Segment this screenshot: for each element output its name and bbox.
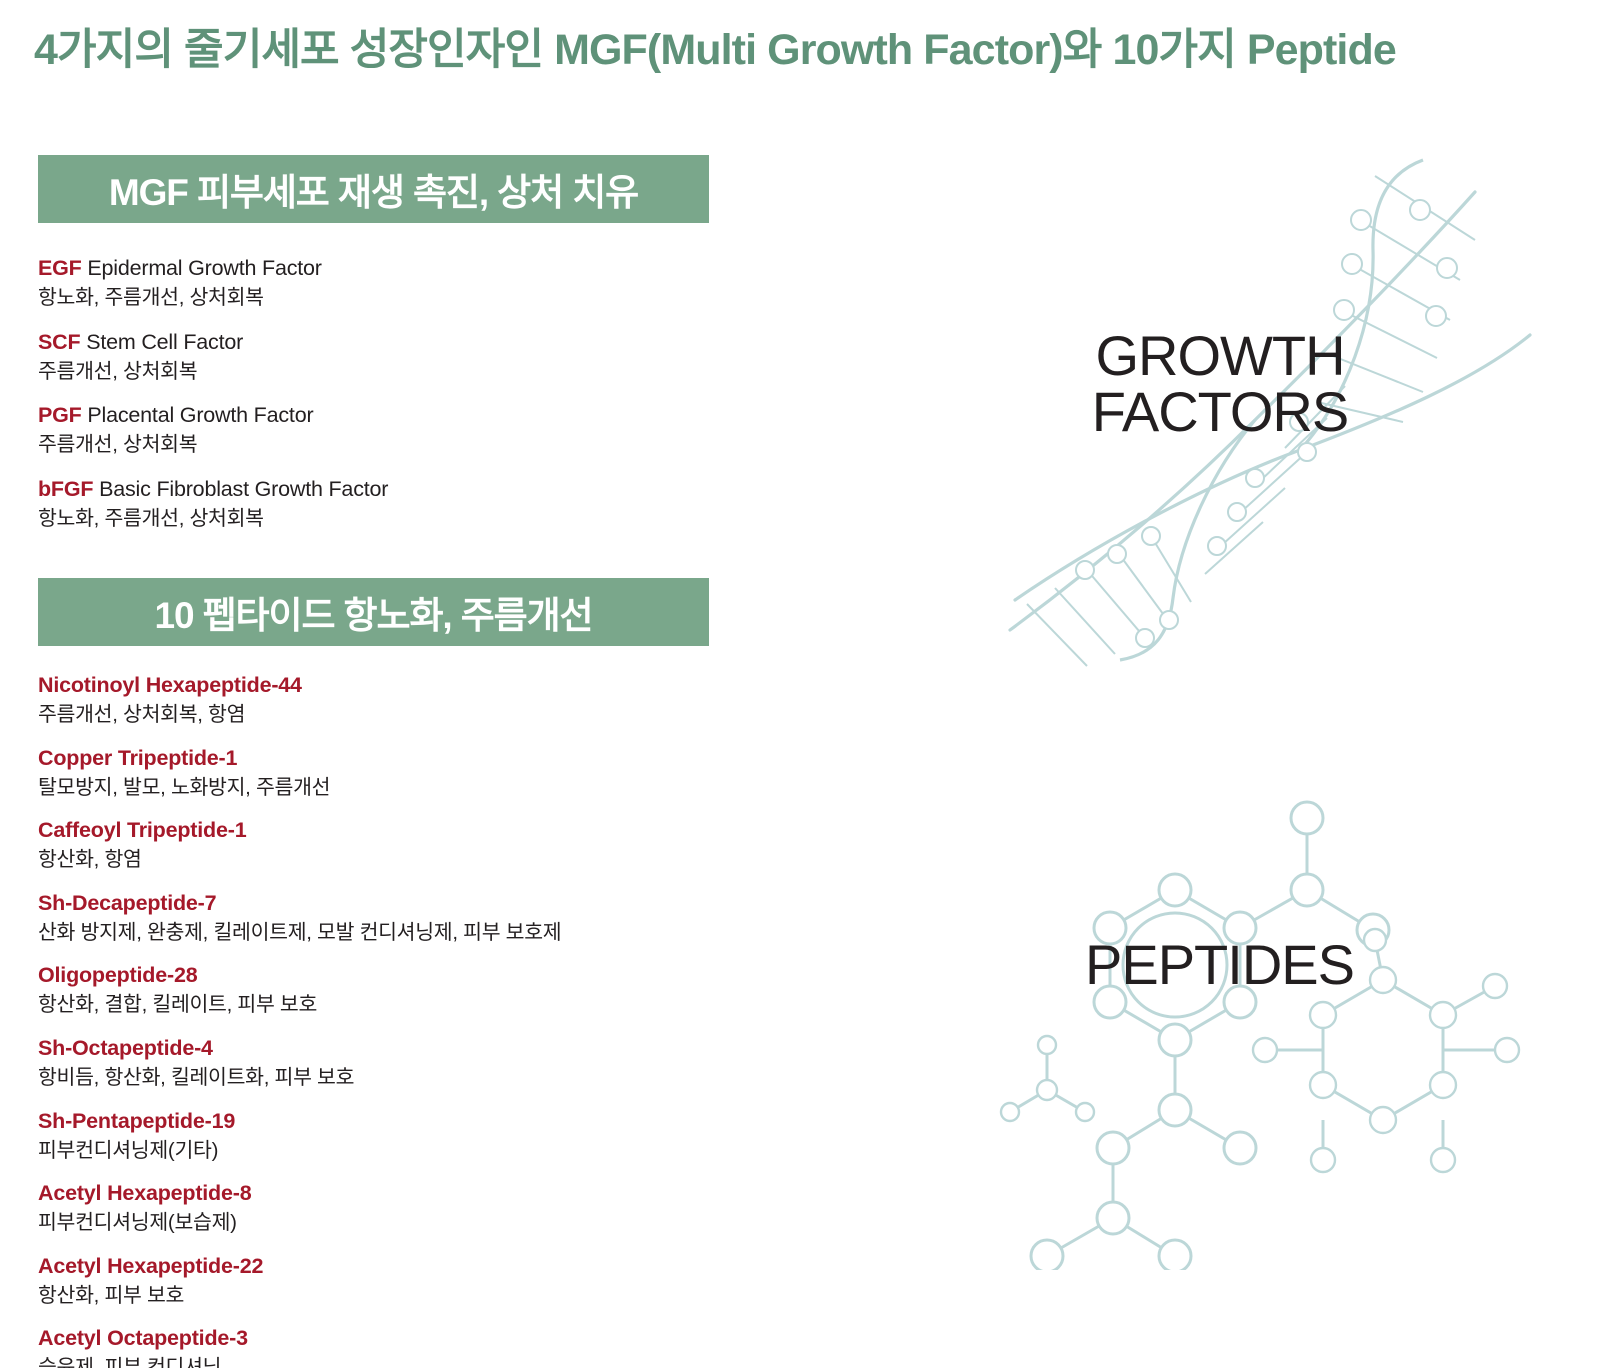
list-item: Acetyl Hexapeptide-8피부컨디셔닝제(보습제) [38,1180,918,1237]
mgf-item-description: 항노화, 주름개선, 상처회복 [38,284,918,312]
mgf-item-name: bFGF Basic Fibroblast Growth Factor [38,476,918,504]
list-item: EGF Epidermal Growth Factor항노화, 주름개선, 상처… [38,255,918,312]
mgf-item-full-name: Stem Cell Factor [86,330,243,354]
list-item: Nicotinoyl Hexapeptide-44주름개선, 상처회복, 항염 [38,672,918,729]
mgf-section-header: MGF 피부세포 재생 촉진, 상처 치유 [38,155,709,223]
peptide-item-description: 탈모방지, 발모, 노화방지, 주름개선 [38,774,918,802]
mgf-item-description: 항노화, 주름개선, 상처회복 [38,505,918,533]
list-item: Caffeoyl Tripeptide-1항산화, 항염 [38,817,918,874]
peptide-item-description: 습윤제, 피부 컨디셔닝 [38,1354,918,1368]
peptide-item-name: Sh-Decapeptide-7 [38,890,918,918]
list-item: Sh-Pentapeptide-19피부컨디셔닝제(기타) [38,1108,918,1165]
peptide-ingredient-list: Nicotinoyl Hexapeptide-44주름개선, 상처회복, 항염C… [38,672,918,1368]
list-item: SCF Stem Cell Factor주름개선, 상처회복 [38,329,918,386]
peptide-item-name: Nicotinoyl Hexapeptide-44 [38,672,918,700]
peptides-caption: PEPTIDES [1085,937,1415,993]
mgf-item-description: 주름개선, 상처회복 [38,431,918,459]
peptide-item-name: Acetyl Hexapeptide-8 [38,1180,918,1208]
peptide-item-description: 피부컨디셔닝제(보습제) [38,1209,918,1237]
mgf-item-abbr: bFGF [38,477,93,501]
peptide-item-name: Copper Tripeptide-1 [38,745,918,773]
peptide-item-description: 산화 방지제, 완충제, 킬레이트제, 모발 컨디셔닝제, 피부 보호제 [38,919,918,947]
peptides-artwork: PEPTIDES [935,690,1575,1270]
mgf-item-description: 주름개선, 상처회복 [38,358,918,386]
mgf-item-abbr: EGF [38,256,82,280]
mgf-item-abbr: SCF [38,330,80,354]
peptide-item-description: 항산화, 항염 [38,846,918,874]
list-item: Copper Tripeptide-1탈모방지, 발모, 노화방지, 주름개선 [38,745,918,802]
mgf-item-name: SCF Stem Cell Factor [38,329,918,357]
peptide-item-name: Acetyl Hexapeptide-22 [38,1253,918,1281]
mgf-item-full-name: Epidermal Growth Factor [87,256,321,280]
peptide-item-name: Caffeoyl Tripeptide-1 [38,817,918,845]
peptide-item-name: Sh-Pentapeptide-19 [38,1108,918,1136]
mgf-item-abbr: PGF [38,403,82,427]
mgf-item-full-name: Basic Fibroblast Growth Factor [99,477,388,501]
list-item: Acetyl Octapeptide-3습윤제, 피부 컨디셔닝 [38,1325,918,1368]
growth-factors-caption: GROWTH FACTORS [1060,328,1380,440]
mgf-ingredient-list: EGF Epidermal Growth Factor항노화, 주름개선, 상처… [38,255,918,549]
mgf-item-full-name: Placental Growth Factor [87,403,313,427]
list-item: Sh-Decapeptide-7산화 방지제, 완충제, 킬레이트제, 모발 컨… [38,890,918,947]
peptide-item-description: 피부컨디셔닝제(기타) [38,1137,918,1165]
peptide-item-description: 항비듬, 항산화, 킬레이트화, 피부 보호 [38,1064,918,1092]
list-item: Sh-Octapeptide-4항비듬, 항산화, 킬레이트화, 피부 보호 [38,1035,918,1092]
peptide-section-header-label: 10 펩타이드 항노화, 주름개선 [38,585,709,639]
infographic-page: 4가지의 줄기세포 성장인자인 MGF(Multi Growth Factor)… [0,0,1610,1368]
peptide-item-name: Sh-Octapeptide-4 [38,1035,918,1063]
list-item: bFGF Basic Fibroblast Growth Factor항노화, … [38,476,918,533]
mgf-section-header-label: MGF 피부세포 재생 촉진, 상처 치유 [38,162,709,216]
list-item: PGF Placental Growth Factor주름개선, 상처회복 [38,402,918,459]
list-item: Acetyl Hexapeptide-22항산화, 피부 보호 [38,1253,918,1310]
list-item: Oligopeptide-28항산화, 결합, 킬레이트, 피부 보호 [38,962,918,1019]
peptide-item-description: 주름개선, 상처회복, 항염 [38,701,918,729]
peptide-section-header: 10 펩타이드 항노화, 주름개선 [38,578,709,646]
peptide-item-description: 항산화, 결합, 킬레이트, 피부 보호 [38,991,918,1019]
mgf-item-name: PGF Placental Growth Factor [38,402,918,430]
peptide-item-description: 항산화, 피부 보호 [38,1282,918,1310]
peptide-item-name: Oligopeptide-28 [38,962,918,990]
growth-factors-artwork: GROWTH FACTORS [955,130,1535,670]
mgf-item-name: EGF Epidermal Growth Factor [38,255,918,283]
page-title: 4가지의 줄기세포 성장인자인 MGF(Multi Growth Factor)… [34,26,1554,75]
peptide-item-name: Acetyl Octapeptide-3 [38,1325,918,1353]
